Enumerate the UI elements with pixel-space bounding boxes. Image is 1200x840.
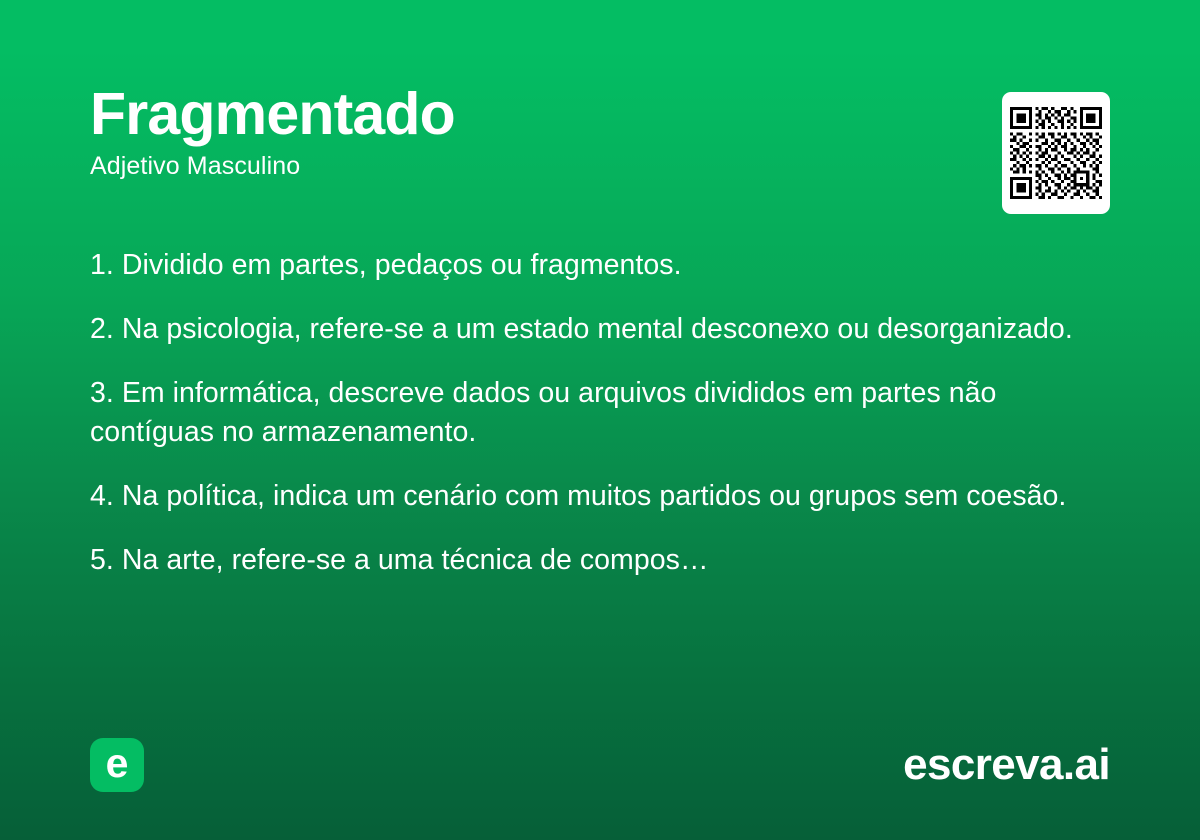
qr-code-card[interactable] <box>1002 92 1110 214</box>
qr-code-icon <box>1010 107 1102 199</box>
brand-wordmark[interactable]: escreva.ai <box>903 743 1110 787</box>
dictionary-card: Fragmentado Adjetivo Masculino <box>0 0 1200 840</box>
definition-item: 1. Dividido em partes, pedaços ou fragme… <box>90 246 1090 285</box>
page-title: Fragmentado <box>90 84 1110 146</box>
card-footer: e escreva.ai <box>90 738 1110 792</box>
escreva-logo-icon[interactable]: e <box>90 738 144 792</box>
definition-item: 3. Em informática, descreve dados ou arq… <box>90 374 1090 452</box>
definition-item: 5. Na arte, refere-se a uma técnica de c… <box>90 541 1090 580</box>
definition-item: 4. Na política, indica um cenário com mu… <box>90 477 1090 516</box>
definitions-list: 1. Dividido em partes, pedaços ou fragme… <box>90 246 1090 580</box>
definition-item: 2. Na psicologia, refere-se a um estado … <box>90 310 1090 349</box>
card-header: Fragmentado Adjetivo Masculino <box>90 84 1110 180</box>
word-class-label: Adjetivo Masculino <box>90 153 1110 181</box>
